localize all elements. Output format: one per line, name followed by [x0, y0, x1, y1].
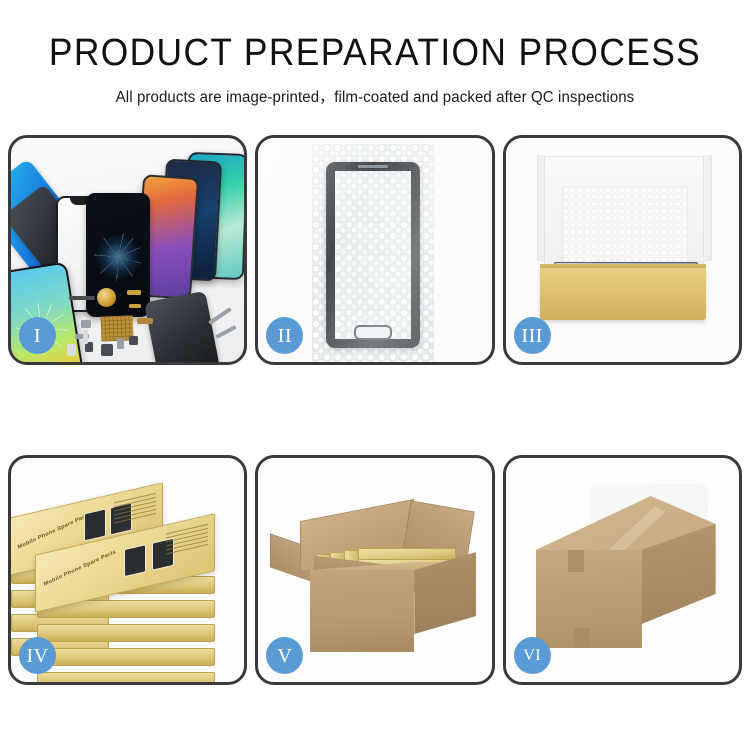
gold-bracket-part — [129, 304, 141, 308]
page-subtitle: All products are image-printed，film-coat… — [11, 85, 739, 107]
phone-glass-panel — [326, 162, 420, 348]
shattered-glass-pattern — [94, 233, 142, 281]
step-badge-4: IV — [19, 637, 56, 674]
notch — [106, 195, 130, 201]
stacked-box-edge — [37, 648, 215, 666]
screwdriver-tool — [215, 325, 236, 339]
flex-strip-part — [69, 296, 95, 300]
black-front-glass — [86, 193, 150, 317]
header: PRODUCT PREPARATION PROCESS All products… — [0, 0, 750, 107]
kraft-box-front — [540, 268, 706, 320]
gold-coil-part — [97, 288, 116, 307]
white-module-part — [67, 344, 76, 356]
white-foam-padding — [562, 186, 688, 270]
box-spec-lines — [166, 524, 208, 558]
camera-module-part — [101, 344, 113, 356]
gold-connector-part — [127, 290, 141, 295]
tweezers-tool — [208, 307, 232, 325]
steps-grid: I II — [8, 135, 742, 685]
box-spec-lines — [114, 493, 156, 527]
metal-bracket-part — [81, 320, 91, 328]
speaker-part — [129, 336, 138, 345]
carton-seam-flap — [568, 550, 584, 572]
chip-part — [137, 318, 153, 324]
step-badge-1: I — [19, 317, 56, 354]
white-clip-part — [83, 330, 88, 344]
page-title: PRODUCT PREPARATION PROCESS — [26, 34, 724, 72]
product-preparation-infographic: PRODUCT PREPARATION PROCESS All products… — [0, 0, 750, 750]
carton-front-panel — [310, 570, 414, 652]
carton-seam-flap — [574, 628, 590, 648]
box-label-text: Mobile Phone Spare Parts — [43, 549, 116, 588]
step-panel-4: Mobile Phone Spare Parts Mobile Phone Sp… — [8, 455, 247, 685]
step-badge-6: VI — [514, 637, 551, 674]
stacked-box-edge — [37, 624, 215, 642]
sim-tray-part — [117, 338, 124, 349]
step-panel-1: I — [8, 135, 247, 365]
step-badge-3: III — [514, 317, 551, 354]
stacked-box-edge — [37, 672, 215, 682]
box-thumbnail-image — [124, 544, 146, 577]
step-panel-6: VI — [503, 455, 742, 685]
step-panel-3: III — [503, 135, 742, 365]
phone-back-housing — [144, 291, 220, 362]
step-panel-5: V — [255, 455, 494, 685]
earpiece-slot — [358, 165, 388, 168]
step-panel-2: II — [255, 135, 494, 365]
box-thumbnail-image — [84, 508, 106, 541]
